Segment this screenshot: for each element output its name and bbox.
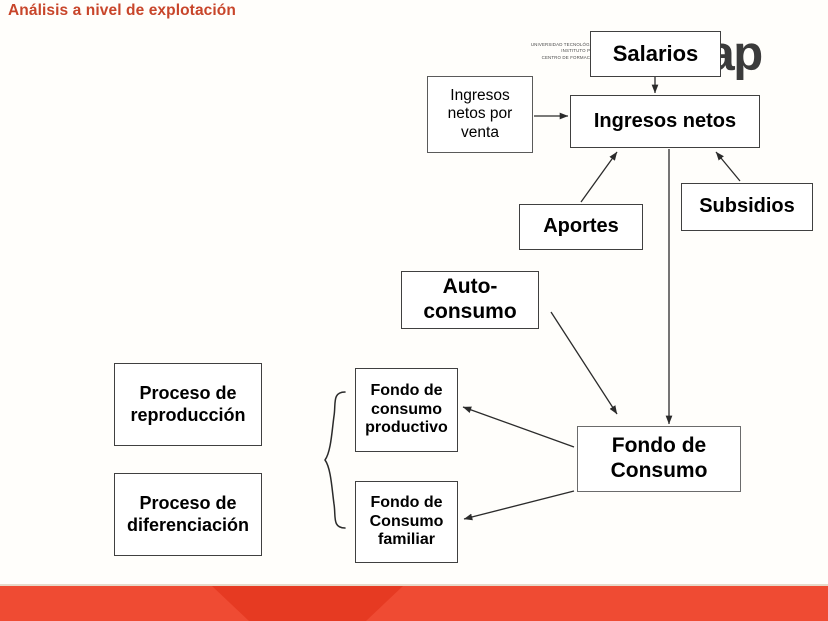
edge-fondo-consumo-to-fondo-familiar xyxy=(464,491,574,519)
bottom-banner xyxy=(0,586,828,621)
edge-subsidios-to-ingresos-netos xyxy=(716,152,740,181)
node-subsidios[interactable]: Subsidios xyxy=(681,183,813,231)
edge-aportes-to-ingresos-netos xyxy=(581,152,617,202)
node-ingresos-netos[interactable]: Ingresos netos xyxy=(570,95,760,148)
grouping-brace xyxy=(325,392,345,528)
node-label: Fondo de consumo productivo xyxy=(356,382,457,438)
node-label: Ingresos netos por venta xyxy=(428,87,532,141)
node-label: Subsidios xyxy=(695,195,799,218)
node-ingresos-netos-por-venta[interactable]: Ingresos netos por venta xyxy=(427,76,533,153)
node-label: Proceso de reproducción xyxy=(115,383,261,425)
node-label: Proceso de diferenciación xyxy=(115,493,261,535)
node-label: Aportes xyxy=(539,215,623,238)
node-salarios[interactable]: Salarios xyxy=(590,31,721,77)
banner-chevron-shape xyxy=(0,586,828,621)
node-fondo-de-consumo[interactable]: Fondo de Consumo xyxy=(577,426,741,492)
node-proceso-de-diferenciacion[interactable]: Proceso de diferenciación xyxy=(114,473,262,556)
node-aportes[interactable]: Aportes xyxy=(519,204,643,250)
node-label: Fondo de Consumo familiar xyxy=(356,494,457,550)
node-label: Ingresos netos xyxy=(590,110,740,133)
node-label: Fondo de Consumo xyxy=(578,434,740,483)
node-fondo-de-consumo-productivo[interactable]: Fondo de consumo productivo xyxy=(355,368,458,452)
page-title: Análisis a nivel de explotación xyxy=(8,2,236,20)
node-proceso-de-reproduccion[interactable]: Proceso de reproducción xyxy=(114,363,262,446)
edge-fondo-consumo-to-fondo-productivo xyxy=(463,407,574,447)
node-label: Salarios xyxy=(609,41,703,67)
edge-autoconsumo-to-fondo-consumo xyxy=(551,312,617,414)
node-auto-consumo[interactable]: Auto-consumo xyxy=(401,271,539,329)
node-fondo-de-consumo-familiar[interactable]: Fondo de Consumo familiar xyxy=(355,481,458,563)
node-label: Auto-consumo xyxy=(402,275,538,324)
